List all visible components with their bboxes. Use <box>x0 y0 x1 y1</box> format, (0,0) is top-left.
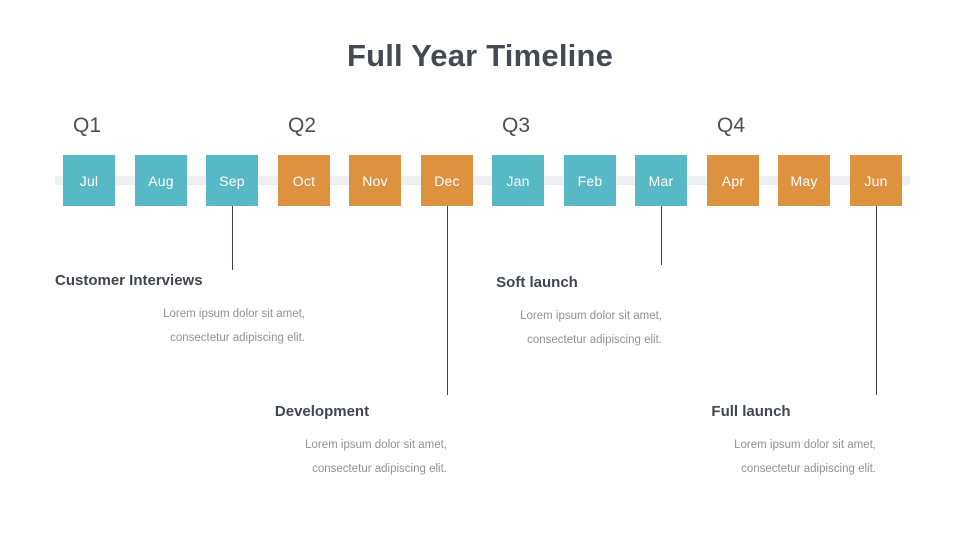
month-label: Nov <box>362 173 388 189</box>
month-label: Sep <box>219 173 245 189</box>
milestone-description-line-1: Lorem ipsum dolor sit amet, <box>520 310 662 322</box>
quarter-label-q4: Q4 <box>717 114 745 138</box>
milestone-title: Full launch <box>626 403 876 420</box>
milestone-title: Soft launch <box>412 274 662 291</box>
page-title: Full Year Timeline <box>0 38 960 74</box>
milestone-full-launch: Full launchLorem ipsum dolor sit amet,co… <box>626 403 876 481</box>
month-label: Mar <box>649 173 674 189</box>
milestone-title: Development <box>197 403 447 420</box>
month-box-aug[interactable]: Aug <box>135 155 187 206</box>
milestone-title: Customer Interviews <box>55 272 305 289</box>
month-box-sep[interactable]: Sep <box>206 155 258 206</box>
drop-line-soft-launch <box>661 206 662 265</box>
month-box-dec[interactable]: Dec <box>421 155 473 206</box>
milestone-description-line-1: Lorem ipsum dolor sit amet, <box>305 439 447 451</box>
month-box-jan[interactable]: Jan <box>492 155 544 206</box>
milestone-development: DevelopmentLorem ipsum dolor sit amet,co… <box>197 403 447 481</box>
month-label: Oct <box>293 173 315 189</box>
month-label: Jan <box>506 173 529 189</box>
month-label: Feb <box>578 173 603 189</box>
milestone-description: Lorem ipsum dolor sit amet,consectetur a… <box>55 302 305 350</box>
month-label: May <box>790 173 817 189</box>
month-box-oct[interactable]: Oct <box>278 155 330 206</box>
milestone-description-line-2: consectetur adipiscing elit. <box>626 457 876 481</box>
month-box-apr[interactable]: Apr <box>707 155 759 206</box>
milestone-customer-interviews: Customer InterviewsLorem ipsum dolor sit… <box>55 272 305 350</box>
milestone-description-line-2: consectetur adipiscing elit. <box>55 326 305 350</box>
milestone-description-line-1: Lorem ipsum dolor sit amet, <box>163 308 305 320</box>
milestone-description: Lorem ipsum dolor sit amet,consectetur a… <box>197 433 447 481</box>
month-box-may[interactable]: May <box>778 155 830 206</box>
month-box-nov[interactable]: Nov <box>349 155 401 206</box>
month-label: Aug <box>148 173 174 189</box>
month-label: Dec <box>434 173 460 189</box>
milestone-description-line-2: consectetur adipiscing elit. <box>412 328 662 352</box>
month-box-feb[interactable]: Feb <box>564 155 616 206</box>
milestone-description: Lorem ipsum dolor sit amet,consectetur a… <box>626 433 876 481</box>
milestone-soft-launch: Soft launchLorem ipsum dolor sit amet,co… <box>412 274 662 352</box>
milestone-description: Lorem ipsum dolor sit amet,consectetur a… <box>412 304 662 352</box>
month-label: Apr <box>722 173 744 189</box>
quarter-label-q2: Q2 <box>288 114 316 138</box>
month-label: Jul <box>80 173 99 189</box>
milestone-description-line-1: Lorem ipsum dolor sit amet, <box>734 439 876 451</box>
month-label: Jun <box>864 173 887 189</box>
timeline-slide: Full Year Timeline Q1Q2Q3Q4 JulAugSepOct… <box>0 0 960 540</box>
quarter-label-q3: Q3 <box>502 114 530 138</box>
milestone-description-line-2: consectetur adipiscing elit. <box>197 457 447 481</box>
month-box-jul[interactable]: Jul <box>63 155 115 206</box>
drop-line-full-launch <box>876 206 877 395</box>
month-box-jun[interactable]: Jun <box>850 155 902 206</box>
month-box-mar[interactable]: Mar <box>635 155 687 206</box>
quarter-label-q1: Q1 <box>73 114 101 138</box>
drop-line-customer-interviews <box>232 206 233 270</box>
